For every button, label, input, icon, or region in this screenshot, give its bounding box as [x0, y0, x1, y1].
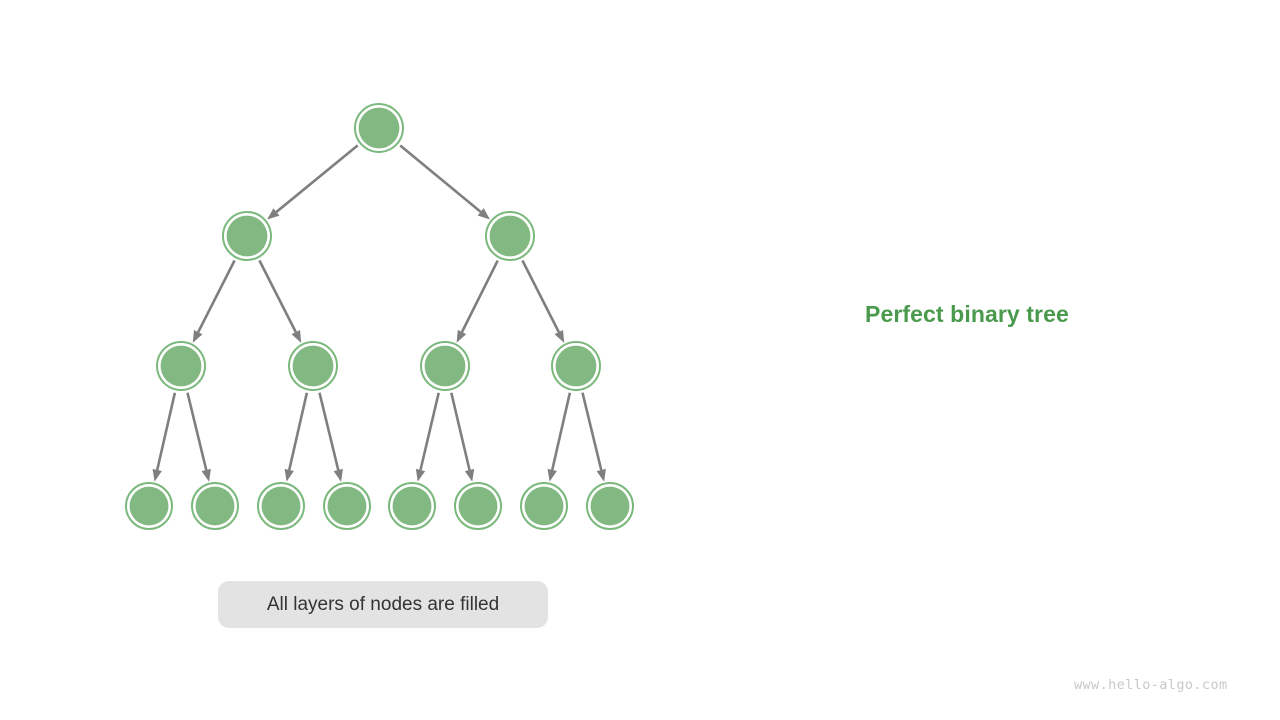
tree-node[interactable]	[389, 483, 435, 529]
tree-node-fill	[293, 346, 334, 387]
tree-edge	[400, 145, 480, 211]
node-layer	[126, 104, 633, 529]
edge-layer	[153, 145, 606, 481]
tree-node[interactable]	[289, 342, 337, 390]
tree-node[interactable]	[421, 342, 469, 390]
tree-edge-arrowhead	[202, 469, 211, 482]
tree-node[interactable]	[521, 483, 567, 529]
tree-edge-arrowhead	[465, 469, 474, 482]
tree-node[interactable]	[455, 483, 501, 529]
caption-badge: All layers of nodes are filled	[218, 581, 548, 628]
tree-edge	[420, 393, 438, 470]
tree-node-fill	[359, 108, 400, 149]
page-title: Perfect binary tree	[865, 301, 1069, 328]
tree-node-fill	[328, 487, 367, 526]
tree-node-fill	[227, 216, 268, 257]
watermark-url: www.hello-algo.com	[1074, 677, 1228, 693]
tree-edge-arrowhead	[597, 469, 606, 482]
tree-node[interactable]	[258, 483, 304, 529]
tree-node-fill	[525, 487, 564, 526]
tree-node-fill	[556, 346, 597, 387]
tree-node[interactable]	[486, 212, 534, 260]
tree-edge	[198, 261, 234, 333]
tree-edge-arrowhead	[548, 469, 557, 482]
tree-edge	[462, 261, 498, 332]
tree-node-fill	[591, 487, 630, 526]
diagram-canvas: Perfect binary tree All layers of nodes …	[0, 0, 1280, 720]
tree-edge	[276, 145, 357, 212]
tree-node[interactable]	[552, 342, 600, 390]
tree-node-fill	[196, 487, 235, 526]
tree-edge	[259, 261, 295, 333]
tree-edge-arrowhead	[292, 330, 302, 343]
tree-node-fill	[393, 487, 432, 526]
tree-edge	[187, 393, 206, 470]
tree-node[interactable]	[324, 483, 370, 529]
tree-node[interactable]	[126, 483, 172, 529]
tree-edge	[319, 393, 338, 470]
tree-edge-arrowhead	[416, 469, 425, 482]
tree-edge	[552, 393, 570, 470]
tree-node[interactable]	[587, 483, 633, 529]
tree-node-fill	[490, 216, 531, 257]
tree-edge	[522, 261, 558, 333]
tree-node[interactable]	[192, 483, 238, 529]
tree-edge	[289, 393, 307, 470]
tree-node[interactable]	[223, 212, 271, 260]
tree-edge	[157, 393, 175, 470]
tree-node[interactable]	[355, 104, 403, 152]
tree-edge	[451, 393, 469, 470]
tree-edge-arrowhead	[193, 330, 203, 343]
tree-node-fill	[262, 487, 301, 526]
tree-node-fill	[161, 346, 202, 387]
tree-edge-arrowhead	[334, 469, 343, 482]
tree-edge-arrowhead	[153, 469, 162, 482]
tree-edge-arrowhead	[285, 469, 294, 482]
tree-node[interactable]	[157, 342, 205, 390]
tree-edge-arrowhead	[457, 330, 467, 343]
tree-node-fill	[459, 487, 498, 526]
caption-label: All layers of nodes are filled	[267, 594, 499, 616]
binary-tree-graphic	[0, 0, 1280, 720]
tree-edge-arrowhead	[555, 330, 565, 343]
tree-edge	[582, 393, 601, 470]
tree-node-fill	[130, 487, 169, 526]
tree-node-fill	[425, 346, 466, 387]
